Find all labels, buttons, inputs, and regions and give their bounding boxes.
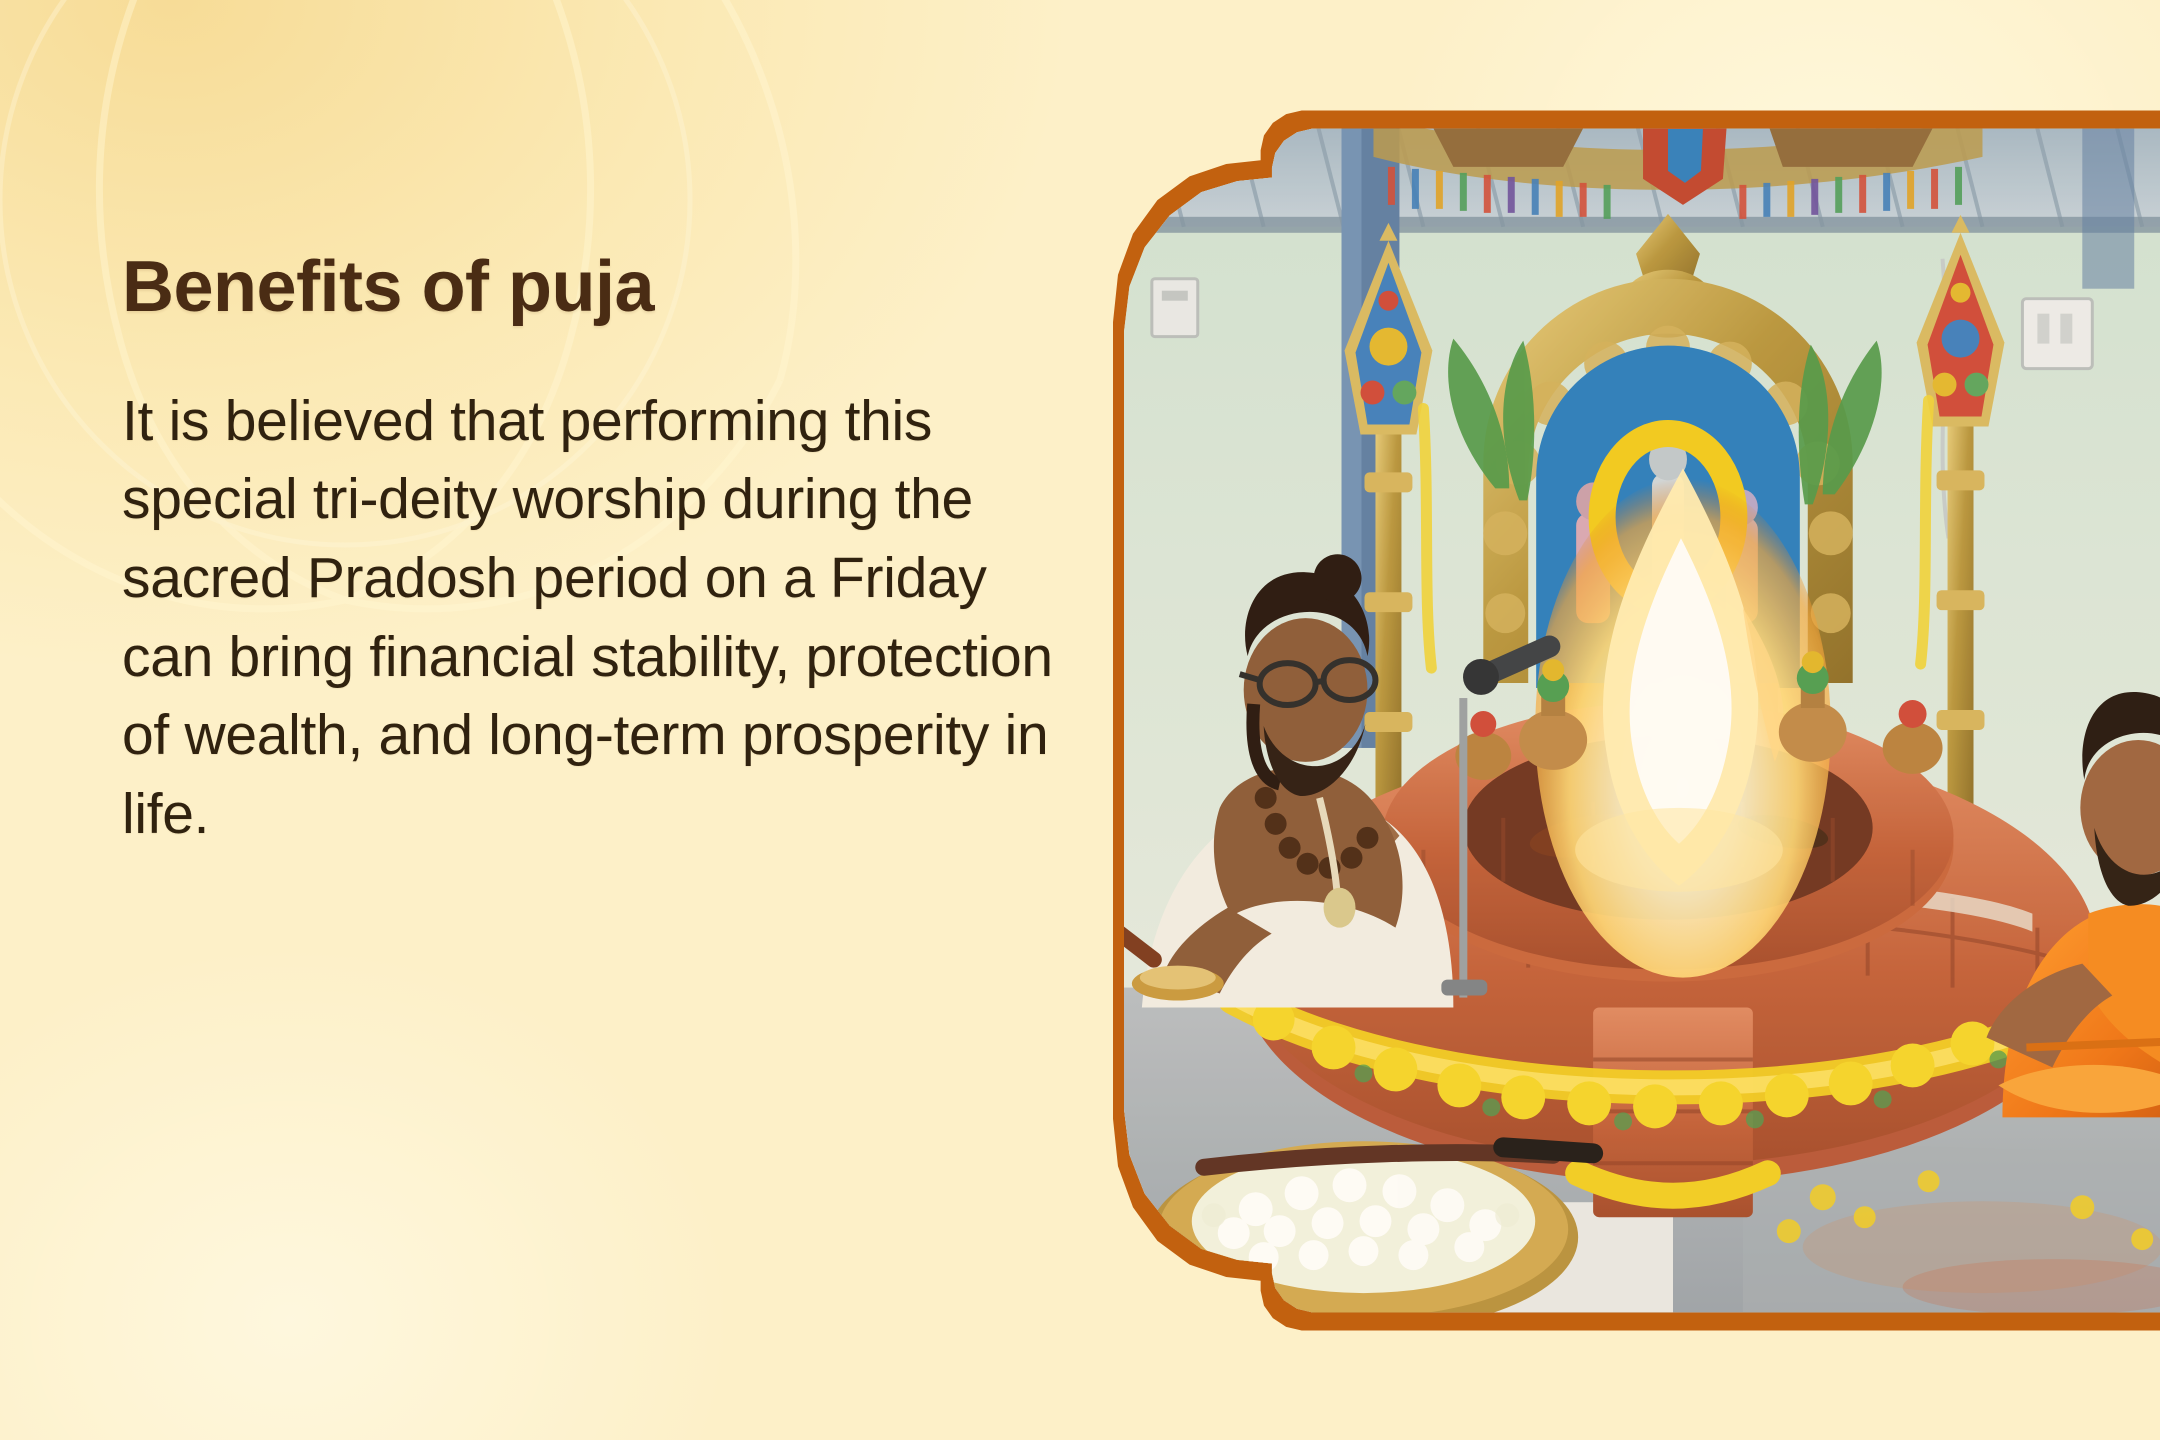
photo-card (1113, 98, 2160, 1343)
ritual-photo (1124, 109, 2160, 1332)
slide-canvas: Benefits of puja It is believed that per… (0, 0, 2160, 1440)
text-column: Benefits of puja It is believed that per… (122, 250, 1072, 854)
body-paragraph: It is believed that performing this spec… (122, 382, 1067, 854)
photo-frame-border (1113, 98, 2160, 1343)
page-title: Benefits of puja (122, 250, 1072, 326)
background-glow-bottom-left (0, 940, 740, 1440)
